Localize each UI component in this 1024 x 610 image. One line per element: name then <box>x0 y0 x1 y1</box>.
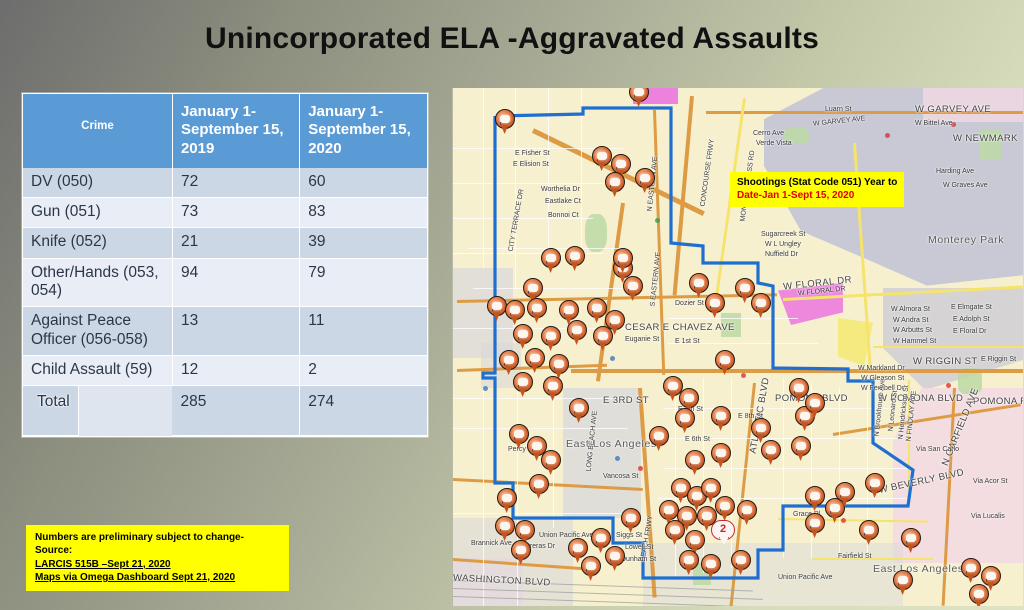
cell-2020: 60 <box>300 168 427 198</box>
cell-crime: Other/Hands (053, 054) <box>23 258 172 307</box>
map-incident-pin[interactable] <box>711 443 731 469</box>
cell-2020: 83 <box>300 198 427 228</box>
map-label-newmark: W NEWMARK <box>953 133 1018 144</box>
incident-map[interactable]: W GARVEY AVE W GARVEY AVE W NEWMARK Mont… <box>452 88 1023 606</box>
map-poi-marker <box>483 386 488 391</box>
column-header-crime: Crime <box>23 94 172 168</box>
cell-2020: 2 <box>300 355 427 385</box>
map-incident-pin[interactable] <box>581 556 601 582</box>
map-incident-pin[interactable] <box>805 513 825 539</box>
map-label-cesar-chavez: CESAR E CHAVEZ AVE <box>625 322 735 333</box>
map-label-vancosa-st: Vancosa St <box>603 473 638 480</box>
map-label-w-bittel-ave: W Bittel Ave <box>915 120 953 127</box>
map-label-w-arbutts-st: W Arbutts St <box>893 327 932 334</box>
table-row: Child Assault (59) 12 2 <box>23 355 427 385</box>
map-label-w-l-ungley: W L Ungley <box>765 241 801 248</box>
map-incident-pin[interactable] <box>685 450 705 476</box>
map-label-e-6th-st: E 6th St <box>685 436 710 443</box>
map-label-euganie-st: Euganie St <box>625 336 659 343</box>
map-incident-pin[interactable] <box>805 393 825 419</box>
map-legend-callout: Shootings (Stat Code 051) Year to Date-J… <box>730 172 904 207</box>
map-label-w-graves-ave: W Graves Ave <box>943 182 988 189</box>
map-incident-pin[interactable] <box>715 496 735 522</box>
map-incident-pin[interactable] <box>805 486 825 512</box>
crime-statistics-table: Crime January 1-September 15, 2019 Janua… <box>22 93 428 437</box>
map-label-fairfield-st: Fairfield St <box>838 553 871 560</box>
cell-2020: 39 <box>300 228 427 258</box>
map-legend-line-2: Date-Jan 1-Sept 15, 2020 <box>737 189 897 202</box>
map-poi-marker <box>610 356 615 361</box>
map-label-east-los-angeles-1: East Los Angeles <box>566 438 657 450</box>
map-incident-pin[interactable] <box>679 550 699 576</box>
map-poi-marker <box>946 383 951 388</box>
cell-crime: Child Assault (59) <box>23 355 172 385</box>
map-label-e-1st-st: E 1st St <box>675 338 700 345</box>
cell-crime: Knife (052) <box>23 228 172 258</box>
map-label-dozier-st: Dozier St <box>675 300 704 307</box>
map-label-east-los-angeles-2: East Los Angeles <box>873 563 964 575</box>
table-row: Gun (051) 73 83 <box>23 198 427 228</box>
map-incident-pin[interactable] <box>511 540 531 566</box>
column-header-2020: January 1-September 15, 2020 <box>300 94 427 168</box>
map-incident-pin[interactable] <box>731 550 751 576</box>
map-incident-pin[interactable] <box>593 326 613 352</box>
cell-2019: 21 <box>172 228 299 258</box>
table-row: Other/Hands (053, 054) 94 79 <box>23 258 427 307</box>
map-incident-pin[interactable] <box>525 348 545 374</box>
map-label-e-floral-dr: E Floral Dr <box>953 328 986 335</box>
table-row: DV (050) 72 60 <box>23 168 427 198</box>
map-incident-pin[interactable] <box>567 320 587 346</box>
cell-total-label: Total <box>23 386 79 436</box>
map-label-e-riggin-st: E Riggin St <box>981 356 1016 363</box>
map-label-harding-ave: Harding Ave <box>936 168 974 175</box>
cell-2019: 12 <box>172 355 299 385</box>
map-incident-pin[interactable] <box>629 88 649 108</box>
map-label-nuffield-dr: Nuffield Dr <box>765 251 798 258</box>
map-cluster-badge[interactable]: 2 <box>711 520 735 546</box>
map-label-via-acor: Via Acor St <box>973 478 1008 485</box>
map-label-riggin-st: W RIGGIN ST <box>913 356 978 367</box>
map-legend-line-1: Shootings (Stat Code 051) Year to <box>737 176 897 189</box>
map-incident-pin[interactable] <box>527 298 547 324</box>
map-label-bonnoi-ct: Bonnoi Ct <box>548 212 579 219</box>
table-row: Knife (052) 21 39 <box>23 228 427 258</box>
map-incident-pin[interactable] <box>701 554 721 580</box>
map-incident-pin[interactable] <box>791 436 811 462</box>
map-label-w-andra-st: W Andra St <box>893 317 928 324</box>
map-incident-pin[interactable] <box>495 516 515 542</box>
map-label-e-elision-st: E Elision St <box>513 161 549 168</box>
cell-2020: 11 <box>300 307 427 356</box>
map-incident-pin[interactable] <box>487 296 507 322</box>
cell-total-2020: 274 <box>300 386 427 436</box>
cell-crime: DV (050) <box>23 168 172 198</box>
map-poi-marker <box>638 466 643 471</box>
map-label-luarn-st: Luarn St <box>825 106 851 113</box>
map-incident-pin[interactable] <box>865 473 885 499</box>
map-cluster-tip <box>719 537 729 545</box>
footnote-link-omega[interactable]: Maps via Omega Dashboard Sept 21, 2020 <box>35 571 281 584</box>
source-footnote: Numbers are preliminary subject to chang… <box>26 525 289 591</box>
map-incident-pin[interactable] <box>901 528 921 554</box>
cell-crime: Against Peace Officer (056-058) <box>23 307 172 356</box>
map-label-garvey-ave: W GARVEY AVE <box>915 104 991 115</box>
map-incident-pin[interactable] <box>605 546 625 572</box>
map-label-w-almora-st: W Almora St <box>891 306 930 313</box>
map-label-union-pacific-2: Union Pacific Ave <box>778 574 832 581</box>
cell-2019: 72 <box>172 168 299 198</box>
table-header-row: Crime January 1-September 15, 2019 Janua… <box>23 94 427 168</box>
map-label-pomona-frwy: POMONA FRWY <box>973 396 1023 407</box>
footnote-link-larcis[interactable]: LARCIS 515B –Sept 21, 2020 <box>35 558 281 571</box>
map-incident-pin[interactable] <box>737 500 757 526</box>
map-incident-pin[interactable] <box>505 300 525 326</box>
map-label-via-lucalis: Via Lucalis <box>971 513 1005 520</box>
map-label-cerro-ave: Cerro Ave <box>753 130 784 137</box>
map-incident-pin[interactable] <box>605 172 625 198</box>
map-incident-pin[interactable] <box>509 424 529 450</box>
map-incident-pin[interactable] <box>529 474 549 500</box>
map-incident-pin[interactable] <box>623 276 643 302</box>
map-incident-pin[interactable] <box>969 584 989 606</box>
map-incident-pin[interactable] <box>569 398 589 424</box>
map-label-verde-vista: Verde Vista <box>756 140 792 147</box>
map-incident-pin[interactable] <box>649 426 669 452</box>
map-label-monterey-park: Monterey Park <box>928 234 1004 246</box>
map-incident-pin[interactable] <box>715 350 735 376</box>
map-incident-pin[interactable] <box>761 440 781 466</box>
map-incident-pin[interactable] <box>513 372 533 398</box>
map-incident-pin[interactable] <box>705 293 725 319</box>
map-incident-pin[interactable] <box>565 246 585 272</box>
map-incident-pin[interactable] <box>587 298 607 324</box>
map-label-w-markland-dr: W Markland Dr <box>858 365 905 372</box>
map-incident-pin[interactable] <box>513 324 533 350</box>
cell-crime: Gun (051) <box>23 198 172 228</box>
map-incident-pin[interactable] <box>592 146 612 172</box>
map-poi-marker <box>885 133 890 138</box>
map-incident-pin[interactable] <box>859 520 879 546</box>
map-label-dunham-st: Dunham St <box>621 556 656 563</box>
table-total-row: Total 285 274 <box>23 386 427 436</box>
page-title: Unincorporated ELA -Aggravated Assaults <box>0 22 1024 56</box>
map-incident-pin[interactable] <box>541 450 561 476</box>
map-incident-pin[interactable] <box>497 488 517 514</box>
cell-2019: 13 <box>172 307 299 356</box>
footnote-line-1: Numbers are preliminary subject to chang… <box>35 532 244 543</box>
map-incident-pin[interactable] <box>665 520 685 546</box>
map-label-worthelia-dr: Worthelia Dr <box>541 186 580 193</box>
map-incident-pin[interactable] <box>635 168 655 194</box>
map-incident-pin[interactable] <box>675 408 695 434</box>
map-label-e-adolph-st: E Adolph St <box>953 316 990 323</box>
column-header-2019: January 1-September 15, 2019 <box>172 94 299 168</box>
map-incident-pin[interactable] <box>711 406 731 432</box>
map-incident-pin[interactable] <box>613 248 633 274</box>
map-incident-pin[interactable] <box>961 558 981 584</box>
map-label-e-elmgate-st: E Elmgate St <box>951 304 992 311</box>
map-incident-pin[interactable] <box>621 508 641 534</box>
map-poi-marker <box>655 218 660 223</box>
cell-total-2019: 285 <box>172 386 299 436</box>
map-incident-pin[interactable] <box>495 109 515 135</box>
map-incident-pin[interactable] <box>835 482 855 508</box>
map-label-sugarcreek-st: Sugarcreek St <box>761 231 805 238</box>
map-incident-pin[interactable] <box>751 293 771 319</box>
map-label-e-fisher-st: E Fisher St <box>515 150 550 157</box>
map-label-lowell-st: Lowell St <box>625 544 653 551</box>
footnote-line-2: Source: <box>35 545 72 556</box>
map-poi-marker <box>615 456 620 461</box>
table-row: Against Peace Officer (056-058) 13 11 <box>23 307 427 356</box>
map-label-w-hammel-st: W Hammel St <box>893 338 936 345</box>
cell-2020: 79 <box>300 258 427 307</box>
map-canvas[interactable]: W GARVEY AVE W GARVEY AVE W NEWMARK Mont… <box>453 88 1023 606</box>
map-poi-marker <box>741 373 746 378</box>
map-label-3rd-st: E 3RD ST <box>603 395 649 406</box>
map-label-eastlake-ct: Eastlake Ct <box>545 198 581 205</box>
cell-2019: 94 <box>172 258 299 307</box>
map-incident-pin[interactable] <box>541 248 561 274</box>
cell-2019: 73 <box>172 198 299 228</box>
map-label-via-san-carlo: Via San Carlo <box>916 446 959 453</box>
map-incident-pin[interactable] <box>893 570 913 596</box>
map-incident-pin[interactable] <box>543 376 563 402</box>
